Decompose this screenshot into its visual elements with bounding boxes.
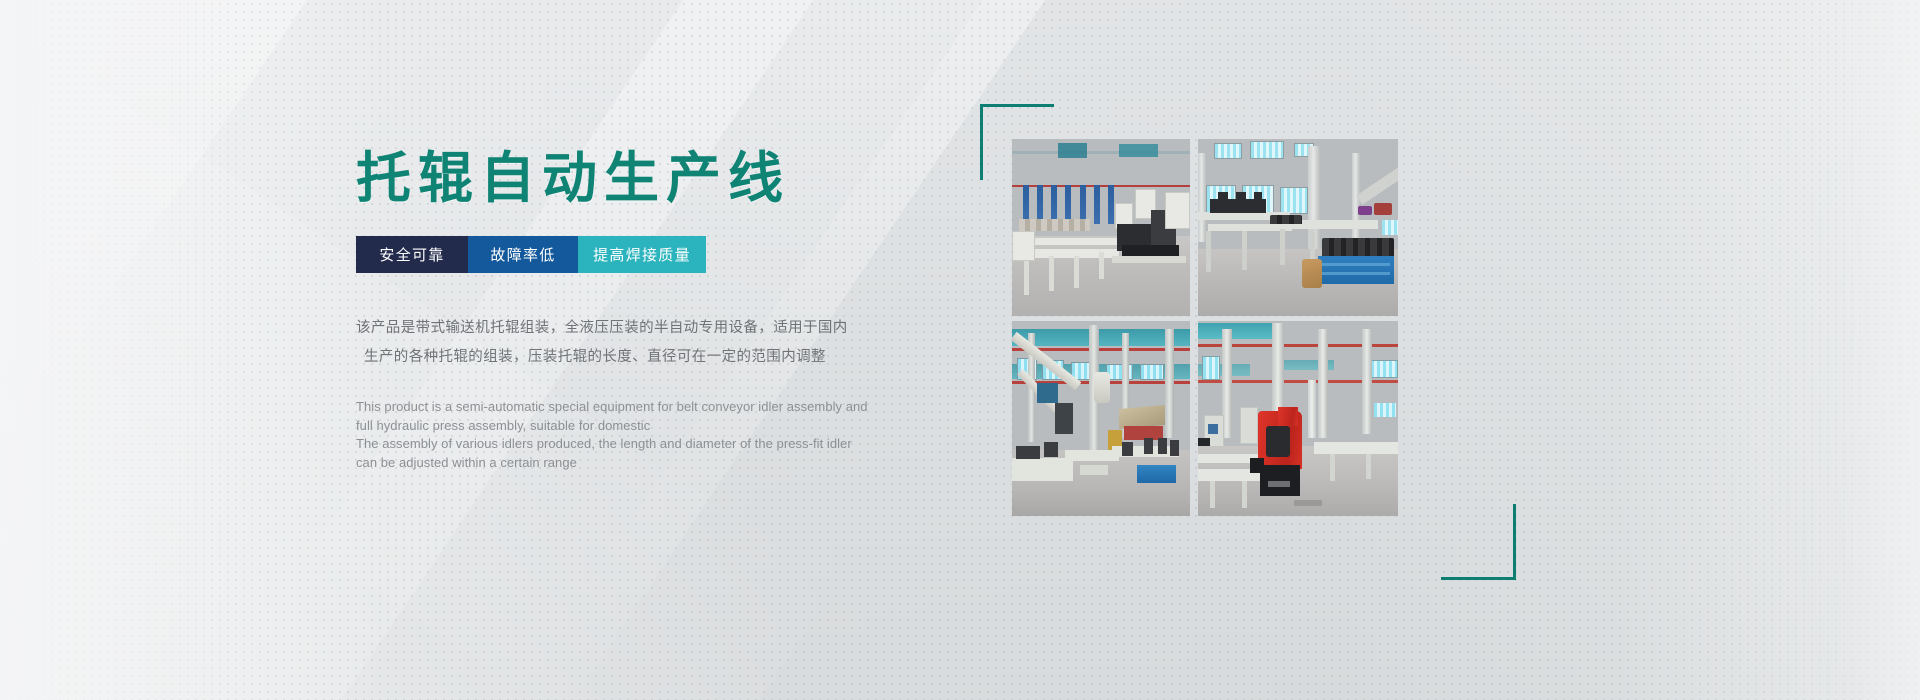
background-edge-fade [0, 0, 1920, 700]
description-english: This product is a semi-automatic special… [356, 398, 876, 472]
feature-badge-safe-reliable[interactable]: 安全可靠 [356, 236, 468, 273]
page-title: 托辊自动生产线 [356, 150, 956, 206]
description-chinese: 该产品是带式输送机托辊组装，全液压压装的半自动专用设备，适用于国内 生产的各种托… [356, 314, 906, 372]
banner-copy: 托辊自动生产线 安全可靠 故障率低 提高焊接质量 该产品是带式输送机托辊组装，全… [356, 150, 956, 472]
feature-badge-group: 安全可靠 故障率低 提高焊接质量 [356, 236, 956, 273]
description-english-line-4: can be adjusted within a certain range [356, 454, 876, 473]
description-english-line-3: The assembly of various idlers produced,… [356, 435, 876, 454]
gallery-photo-idler-conveyor-roller-table[interactable] [1012, 139, 1190, 316]
gallery-photo-red-hydraulic-press-machine[interactable] [1198, 321, 1398, 516]
description-chinese-line-1: 该产品是带式输送机托辊组装，全液压压装的半自动专用设备，适用于国内 [356, 314, 906, 343]
feature-badge-low-failure-rate[interactable]: 故障率低 [468, 236, 578, 273]
gallery-photo-production-hall-machinery[interactable] [1012, 321, 1190, 516]
product-banner: 托辊自动生产线 安全可靠 故障率低 提高焊接质量 该产品是带式输送机托辊组装，全… [0, 0, 1920, 700]
description-english-line-2: full hydraulic press assembly, suitable … [356, 417, 876, 436]
description-english-line-1: This product is a semi-automatic special… [356, 398, 876, 417]
corner-bracket-bottom-right-icon [1441, 504, 1516, 580]
product-photo-gallery [1012, 139, 1412, 537]
description-chinese-line-2: 生产的各种托辊的组装，压装托辊的长度、直径可在一定的范围内调整 [356, 343, 906, 372]
feature-badge-improve-weld-quality[interactable]: 提高焊接质量 [578, 236, 706, 273]
gallery-photo-workshop-idler-rollers-blue-crate[interactable] [1198, 139, 1398, 316]
